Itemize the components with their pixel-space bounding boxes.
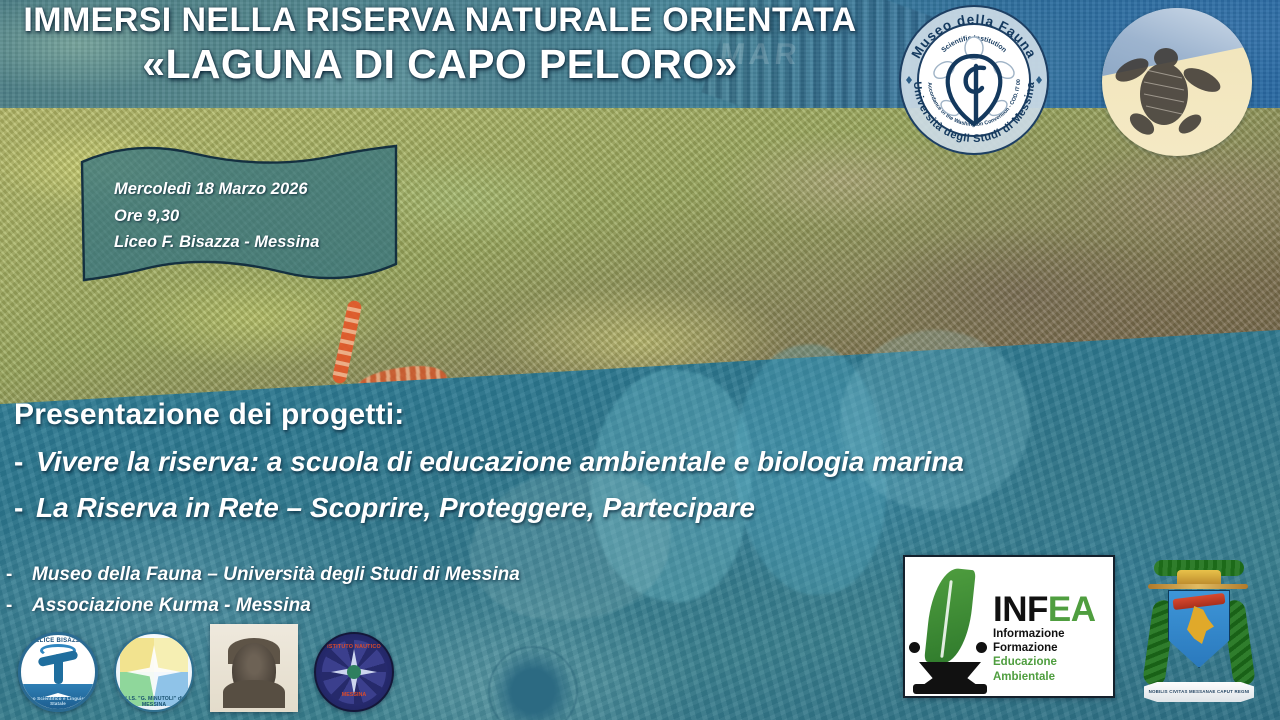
- event-banner-text: Mercoledì 18 Marzo 2026 Ore 9,30 Liceo F…: [114, 176, 319, 256]
- bullet-dash: -: [14, 492, 36, 524]
- organizer-label: Museo della Fauna – Università degli Stu…: [32, 564, 520, 585]
- event-banner: Mercoledì 18 Marzo 2026 Ore 9,30 Liceo F…: [78, 138, 403, 288]
- organizers-block: -Museo della Fauna – Università degli St…: [6, 560, 520, 622]
- bullet-dash: -: [6, 560, 32, 591]
- organizer-label: Associazione Kurma - Messina: [32, 595, 311, 616]
- minutoli-ring-bottom: I.I.S. "G. MINUTOLI" di MESSINA: [116, 696, 192, 708]
- bullet-dash: -: [14, 446, 36, 478]
- vase-dot-right: [976, 642, 987, 653]
- project-item-label: La Riserva in Rete – Scoprire, Protegger…: [36, 492, 755, 523]
- museo-della-fauna-seal: Museo della Fauna Università degli Studi…: [898, 4, 1050, 156]
- istituto-nautico-logo: ISTITUTO NAUTICO MESSINA: [314, 632, 394, 712]
- wheel-hub-icon: [347, 665, 361, 679]
- infea-subtitle-1: Informazione Formazione: [993, 627, 1107, 656]
- arms-motto: NOBILIS CIVITAS MESSANAE CAPUT REGNI: [1144, 682, 1254, 702]
- poster: MAR IMMERSI NELLA RISERVA NATURALE ORIEN…: [0, 0, 1280, 720]
- compass-quadrant: [120, 638, 154, 672]
- event-time: Ore 9,30: [114, 203, 319, 230]
- messina-coat-of-arms: NOBILIS CIVITAS MESSANAE CAPUT REGNI: [1140, 556, 1258, 704]
- infea-subtitle-2: Educazione Ambientale: [993, 655, 1107, 684]
- headline-line-1: IMMERSI NELLA RISERVA NATURALE ORIENTATA: [0, 2, 880, 38]
- arms-motto-banner: NOBILIS CIVITAS MESSANAE CAPUT REGNI: [1144, 682, 1254, 702]
- vase-base: [913, 684, 987, 694]
- bullet-dash: -: [6, 591, 32, 622]
- infea-brand: INFEA: [993, 593, 1107, 626]
- infea-plant-icon: [905, 564, 991, 696]
- iis-minutoli-logo: I.I.S. "G. MINUTOLI" di MESSINA: [114, 632, 194, 712]
- infea-logo: INFEA Informazione Formazione Educazione…: [903, 555, 1115, 698]
- baby-turtle-icon: [1102, 8, 1252, 156]
- vase-dot-left: [909, 642, 920, 653]
- organizer-item: -Museo della Fauna – Università degli St…: [6, 560, 520, 591]
- project-item: -Vivere la riserva: a scuola di educazio…: [14, 446, 1264, 478]
- liceo-bisazza-logo: FELICE BISAZZA Liceo Scientifico e Lingu…: [18, 632, 98, 712]
- heraldic-rod: [1148, 584, 1248, 589]
- organizer-item: -Associazione Kurma - Messina: [6, 591, 520, 622]
- headline-line-2: «LAGUNA DI CAPO PELORO»: [0, 43, 880, 86]
- bisazza-ring-bottom: Liceo Scientifico e Linguistico Statale: [21, 696, 95, 706]
- project-item-label: Vivere la riserva: a scuola di educazion…: [36, 446, 964, 477]
- portrait-body: [223, 680, 285, 708]
- kurma-badge: Kurma: [1102, 8, 1252, 156]
- projects-heading: Presentazione dei progetti:: [14, 398, 1264, 432]
- event-venue: Liceo F. Bisazza - Messina: [114, 229, 319, 256]
- nautico-arc-bottom: MESSINA: [316, 692, 392, 698]
- figure-body-icon: [54, 654, 63, 684]
- project-item: -La Riserva in Rete – Scoprire, Protegge…: [14, 492, 1264, 524]
- page-title: IMMERSI NELLA RISERVA NATURALE ORIENTATA…: [0, 2, 880, 86]
- compass-quadrant: [154, 638, 188, 672]
- partner-logo-row: FELICE BISAZZA Liceo Scientifico e Lingu…: [18, 624, 394, 712]
- infea-text: INFEA Informazione Formazione Educazione…: [991, 593, 1113, 696]
- projects-block: Presentazione dei progetti: -Vivere la r…: [14, 398, 1264, 524]
- infea-brand-green: EA: [1048, 590, 1096, 629]
- infea-brand-dark: INF: [993, 590, 1048, 629]
- bisazza-portrait: [210, 624, 298, 712]
- event-date: Mercoledì 18 Marzo 2026: [114, 176, 319, 203]
